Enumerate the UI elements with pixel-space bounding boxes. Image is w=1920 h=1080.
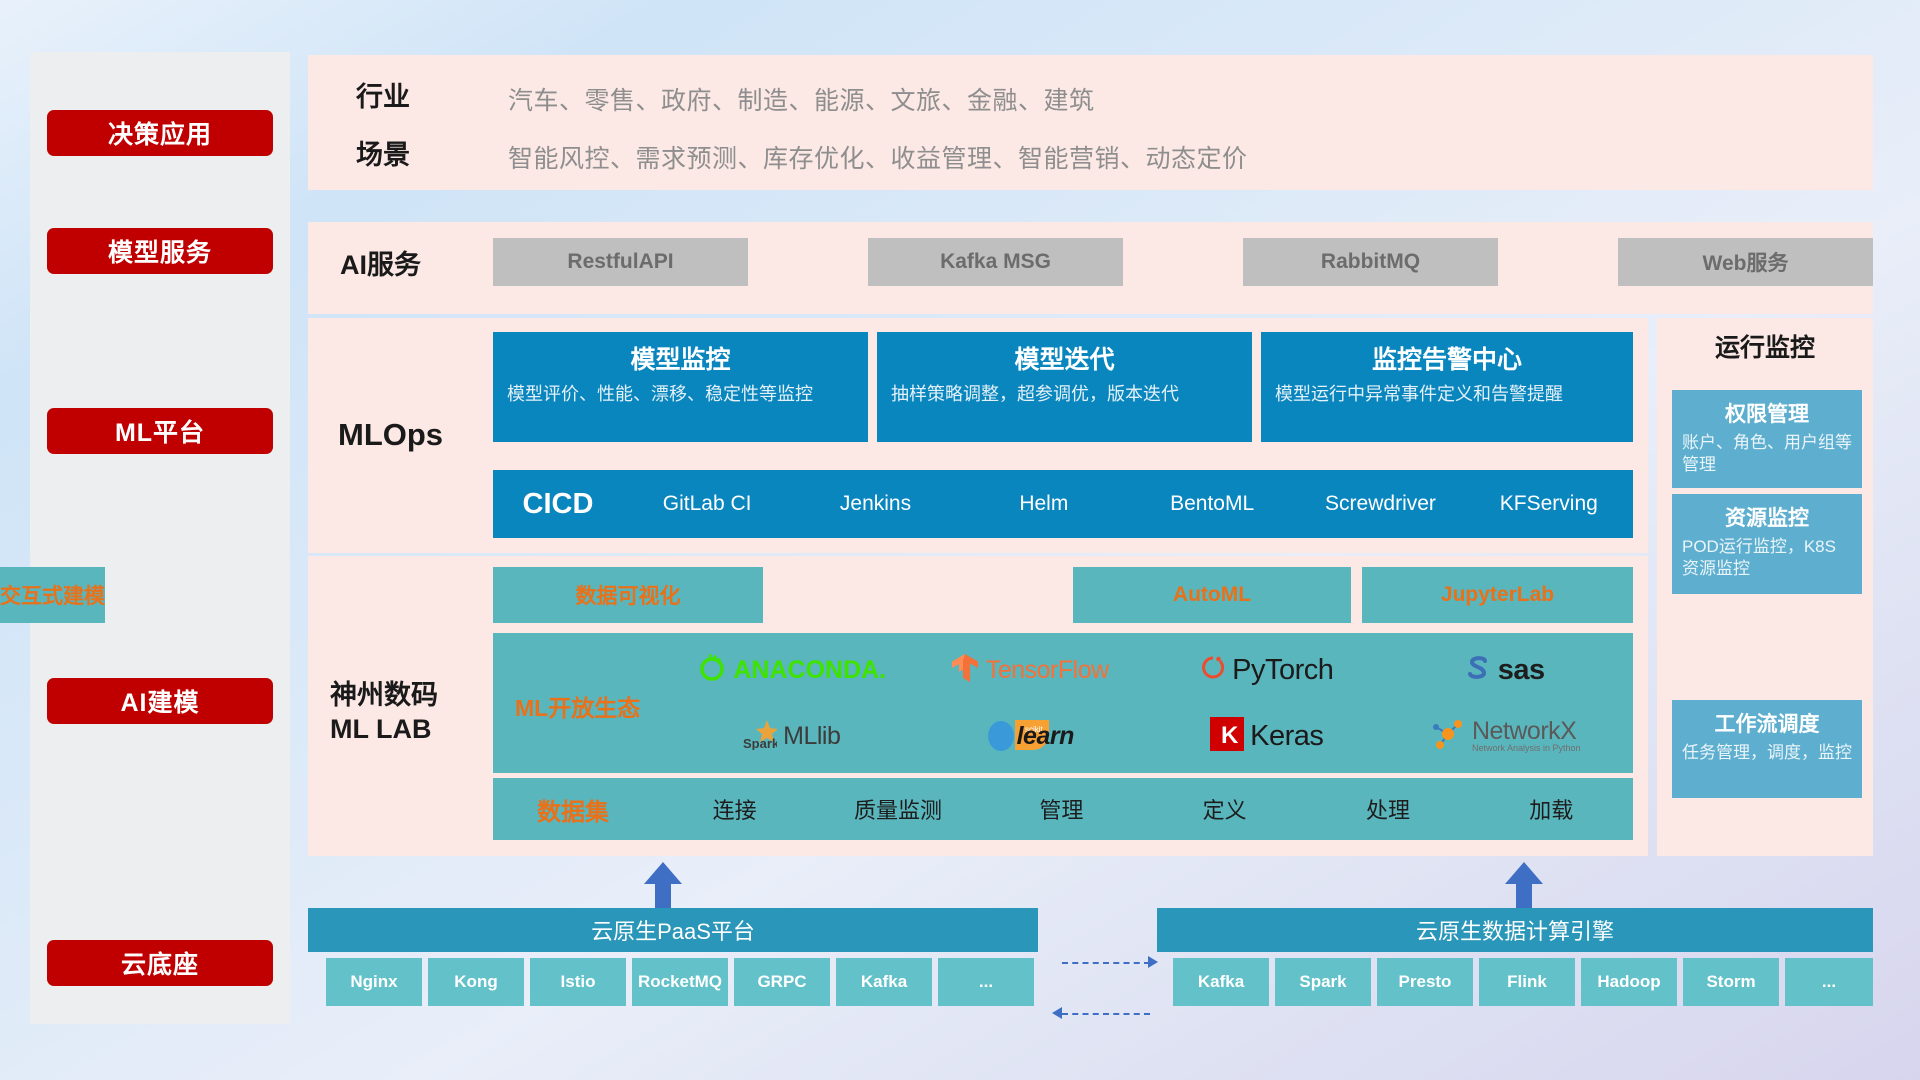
dataset-item-load[interactable]: 加载 xyxy=(1470,793,1633,825)
monitoring-card-desc: 账户、角色、用户组等管理 xyxy=(1682,432,1852,477)
mllib-label: MLlib xyxy=(783,722,840,751)
spark-icon: Spark xyxy=(743,718,777,755)
cicd-title: CICD xyxy=(493,488,623,521)
dataset-item-process[interactable]: 处理 xyxy=(1306,793,1469,825)
cloud-chip-spark[interactable]: Spark xyxy=(1275,958,1371,1006)
cicd-item-gitlab-ci[interactable]: GitLab CI xyxy=(623,492,791,516)
sas-icon xyxy=(1464,653,1492,688)
mlops-card-model-monitoring[interactable]: 模型监控 模型评价、性能、漂移、稳定性等监控 xyxy=(493,332,868,442)
ml-tab-data-visualization[interactable]: 数据可视化 xyxy=(493,567,763,623)
sas-label: sas xyxy=(1498,654,1545,687)
scenario-value: 智能风控、需求预测、库存优化、收益管理、智能营销、动态定价 xyxy=(508,139,1248,175)
scenario-label: 场景 xyxy=(356,138,410,172)
ml-tab-automl[interactable]: AutoML xyxy=(1073,567,1351,623)
cicd-item-kfserving[interactable]: KFServing xyxy=(1465,492,1633,516)
pytorch-icon xyxy=(1200,653,1226,688)
networkx-logo: NetworkX Network Analysis in Python xyxy=(1428,717,1581,756)
pytorch-logo: PyTorch xyxy=(1200,653,1333,688)
scikit-learn-logo: scikit learn xyxy=(985,716,1074,757)
dataset-title: 数据集 xyxy=(493,792,653,827)
monitoring-card-title: 资源监控 xyxy=(1682,502,1852,532)
mlops-card-title: 监控告警中心 xyxy=(1275,340,1619,376)
ml-ecosystem-label: ML开放生态 xyxy=(515,689,640,723)
cloud-chip-storm[interactable]: Storm xyxy=(1683,958,1779,1006)
keras-logo: K Keras xyxy=(1210,717,1323,756)
cloud-chip-grpc[interactable]: GRPC xyxy=(734,958,830,1006)
dataset-bar: 数据集 连接 质量监测 管理 定义 处理 加载 xyxy=(493,778,1633,840)
cicd-item-helm[interactable]: Helm xyxy=(960,492,1128,516)
stage-chip-model-service[interactable]: 模型服务 xyxy=(47,228,273,274)
monitoring-card-desc: 任务管理，调度，监控 xyxy=(1682,742,1852,764)
monitoring-card-workflow[interactable]: 工作流调度 任务管理，调度，监控 xyxy=(1672,700,1862,798)
stage-chip-cloud-base[interactable]: 云底座 xyxy=(47,940,273,986)
dash-line-right xyxy=(1062,962,1150,964)
stage-chip-ml-platform[interactable]: ML平台 xyxy=(47,408,273,454)
arrow-up-data-engine xyxy=(1505,862,1543,908)
cloud-chip-nginx[interactable]: Nginx xyxy=(326,958,422,1006)
networkx-sublabel: Network Analysis in Python xyxy=(1472,744,1581,753)
svg-text:K: K xyxy=(1221,722,1239,749)
ml-lab-label: 神州数码 ML LAB xyxy=(330,678,438,746)
monitoring-card-title: 权限管理 xyxy=(1682,398,1852,428)
mlops-card-alert-center[interactable]: 监控告警中心 模型运行中异常事件定义和告警提醒 xyxy=(1261,332,1633,442)
cicd-bar: CICD GitLab CI Jenkins Helm BentoML Scre… xyxy=(493,470,1633,538)
anaconda-label: ANACONDA. xyxy=(733,656,886,685)
learn-label: learn xyxy=(1017,722,1074,751)
monitoring-card-permissions[interactable]: 权限管理 账户、角色、用户组等管理 xyxy=(1672,390,1862,488)
dash-arrow-right xyxy=(1148,956,1158,968)
cloud-chip-presto[interactable]: Presto xyxy=(1377,958,1473,1006)
dash-arrow-left xyxy=(1052,1007,1062,1019)
architecture-diagram: 决策应用 模型服务 ML平台 AI建模 云底座 行业 汽车、零售、政府、制造、能… xyxy=(0,0,1920,1080)
mlops-card-model-iteration[interactable]: 模型迭代 抽样策略调整，超参调优，版本迭代 xyxy=(877,332,1252,442)
cicd-item-screwdriver[interactable]: Screwdriver xyxy=(1296,492,1464,516)
cloud-chip-kafka-right[interactable]: Kafka xyxy=(1173,958,1269,1006)
cloud-chip-flink[interactable]: Flink xyxy=(1479,958,1575,1006)
cloud-chip-rocketmq[interactable]: RocketMQ xyxy=(632,958,728,1006)
mlops-card-desc: 模型运行中异常事件定义和告警提醒 xyxy=(1275,382,1619,406)
stage-column xyxy=(30,52,290,1024)
tensorflow-icon xyxy=(950,652,980,689)
dataset-item-quality[interactable]: 质量监测 xyxy=(816,793,979,825)
arrow-up-paas xyxy=(644,862,682,908)
cloud-chip-more-left[interactable]: ... xyxy=(938,958,1034,1006)
anaconda-icon xyxy=(697,653,727,688)
ai-service-chip-rabbitmq[interactable]: RabbitMQ xyxy=(1243,238,1498,286)
keras-label: Keras xyxy=(1250,720,1323,753)
ml-ecosystem-logo-grid: ANACONDA. TensorFlow PyTorch sas xyxy=(673,637,1623,769)
tensorflow-label: TensorFlow xyxy=(986,656,1109,685)
dataset-item-connect[interactable]: 连接 xyxy=(653,793,816,825)
ml-tab-jupyterlab[interactable]: JupyterLab xyxy=(1362,567,1633,623)
mlops-card-desc: 模型评价、性能、漂移、稳定性等监控 xyxy=(507,382,854,406)
cicd-item-bentoml[interactable]: BentoML xyxy=(1128,492,1296,516)
ml-ecosystem-box: ML开放生态 ANACONDA. TensorFlow PyTorch xyxy=(493,633,1633,773)
mlops-label: MLOps xyxy=(338,415,443,454)
pytorch-label: PyTorch xyxy=(1232,654,1333,687)
dash-line-left xyxy=(1062,1013,1150,1015)
dataset-item-define[interactable]: 定义 xyxy=(1143,793,1306,825)
keras-icon: K xyxy=(1210,717,1244,756)
spark-mllib-logo: Spark MLlib xyxy=(743,718,840,755)
sas-logo: sas xyxy=(1464,653,1545,688)
svg-text:Spark: Spark xyxy=(743,736,777,750)
ai-service-chip-restfulapi[interactable]: RestfulAPI xyxy=(493,238,748,286)
monitoring-card-resources[interactable]: 资源监控 POD运行监控，K8S资源监控 xyxy=(1672,494,1862,594)
ai-service-label: AI服务 xyxy=(340,248,421,282)
cloud-chip-hadoop[interactable]: Hadoop xyxy=(1581,958,1677,1006)
cloud-chip-more-right[interactable]: ... xyxy=(1785,958,1873,1006)
networkx-icon xyxy=(1428,717,1466,756)
mlops-card-title: 模型迭代 xyxy=(891,340,1238,376)
stage-chip-ai-modeling[interactable]: AI建模 xyxy=(47,678,273,724)
cloud-chip-istio[interactable]: Istio xyxy=(530,958,626,1006)
industry-label: 行业 xyxy=(356,80,410,114)
mlops-card-title: 模型监控 xyxy=(507,340,854,376)
cicd-item-jenkins[interactable]: Jenkins xyxy=(791,492,959,516)
industry-value: 汽车、零售、政府、制造、能源、文旅、金融、建筑 xyxy=(508,81,1095,117)
anaconda-logo: ANACONDA. xyxy=(697,653,886,688)
monitoring-card-title: 工作流调度 xyxy=(1682,708,1852,738)
cloud-chip-kafka[interactable]: Kafka xyxy=(836,958,932,1006)
stage-chip-decision-app[interactable]: 决策应用 xyxy=(47,110,273,156)
monitoring-title: 运行监控 xyxy=(1657,328,1873,364)
cloud-chip-kong[interactable]: Kong xyxy=(428,958,524,1006)
ai-service-chip-kafka-msg[interactable]: Kafka MSG xyxy=(868,238,1123,286)
cloud-data-engine-bar: 云原生数据计算引擎 xyxy=(1157,908,1873,952)
ai-service-chip-web-service[interactable]: Web服务 xyxy=(1618,238,1873,286)
monitoring-card-desc: POD运行监控，K8S资源监控 xyxy=(1682,536,1852,581)
cloud-paas-bar: 云原生PaaS平台 xyxy=(308,908,1038,952)
networkx-label: NetworkX xyxy=(1472,719,1581,744)
tensorflow-logo: TensorFlow xyxy=(950,652,1109,689)
ml-tab-interactive-modeling[interactable]: 交互式建模 xyxy=(0,567,105,623)
dataset-item-manage[interactable]: 管理 xyxy=(980,793,1143,825)
mlops-card-desc: 抽样策略调整，超参调优，版本迭代 xyxy=(891,382,1238,406)
